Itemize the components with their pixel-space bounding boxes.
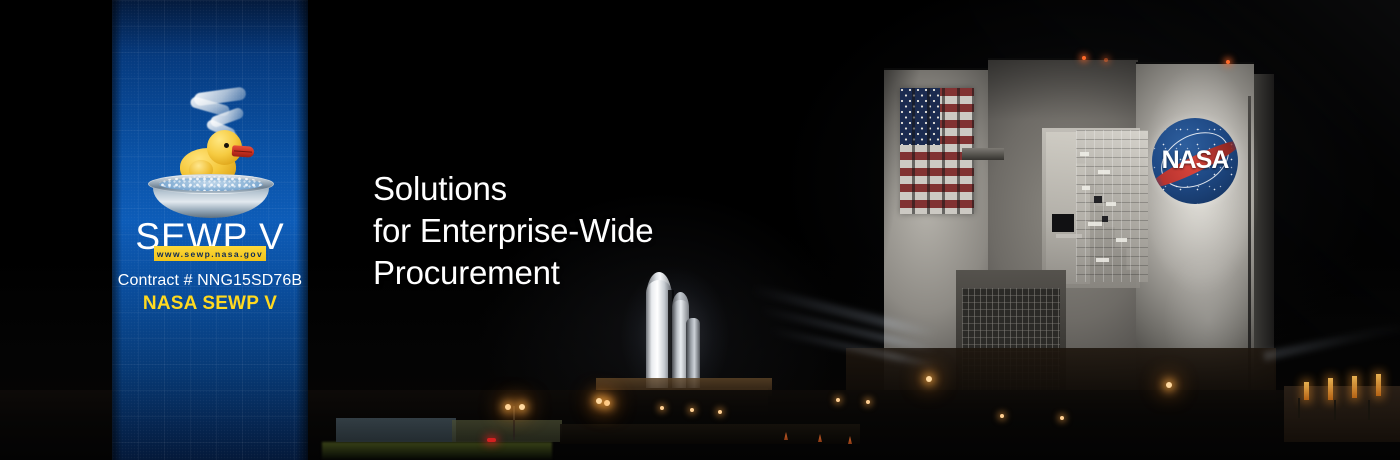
small-light — [1060, 416, 1064, 420]
vab-ledge — [962, 148, 1004, 160]
small-light — [866, 400, 870, 404]
metal-basin-icon — [148, 174, 274, 218]
pad-lamp-light — [1166, 382, 1172, 388]
amber-window-light — [1376, 374, 1381, 396]
background-warehouse — [336, 418, 456, 442]
sewp-duck-logo-icon — [146, 88, 276, 223]
program-name-label: NASA SEWP V — [112, 293, 308, 315]
amber-window-light — [1352, 376, 1357, 398]
grass-strip — [322, 442, 552, 460]
palm-tree — [1298, 398, 1300, 418]
vab-equipment-block — [1052, 214, 1074, 232]
small-light — [690, 408, 694, 412]
meatball-wordmark: NASA — [1152, 146, 1238, 175]
palm-tree — [1334, 400, 1336, 420]
street-lamp-light — [519, 404, 525, 410]
sewp-url-badge[interactable]: www.sewp.nasa.gov — [154, 246, 266, 261]
street-lamp-light — [604, 400, 610, 406]
vab-equipment-rail — [1056, 234, 1082, 238]
palm-tree — [1368, 400, 1370, 420]
amber-window-light — [1304, 382, 1309, 400]
background-warehouse — [452, 420, 562, 442]
small-light — [1000, 414, 1004, 418]
tree-line — [560, 424, 860, 444]
vehicle-tail-light — [487, 438, 496, 442]
sewp-url-text: www.sewp.nasa.gov — [157, 249, 263, 259]
pad-lamp-light — [926, 376, 932, 382]
small-light — [836, 398, 840, 402]
street-lamp-light — [505, 404, 511, 410]
vab-far-right-edge — [1254, 74, 1274, 394]
vab-panel-highlights — [1076, 130, 1148, 282]
contract-number-label: Contract # NNG15SD76B — [112, 272, 308, 290]
sewp-hero-banner: NASA — [0, 0, 1400, 460]
amber-window-light — [1328, 378, 1333, 400]
street-lamp-light — [596, 398, 602, 404]
duck-eye — [224, 143, 229, 148]
roof-beacon-light — [1226, 60, 1230, 64]
hero-tagline: Solutions for Enterprise-Wide Procuremen… — [373, 168, 653, 294]
sewp-logo-panel: SEWP V www.sewp.nasa.gov Contract # NNG1… — [112, 0, 308, 460]
right-side-building — [1284, 386, 1400, 442]
nasa-meatball-icon: NASA — [1152, 118, 1238, 204]
basin-bubbles — [159, 176, 263, 191]
small-light — [718, 410, 722, 414]
small-light — [660, 406, 664, 410]
lamp-post — [513, 406, 515, 440]
roof-beacon-light — [1082, 56, 1086, 60]
roof-beacon-light — [1104, 58, 1108, 62]
